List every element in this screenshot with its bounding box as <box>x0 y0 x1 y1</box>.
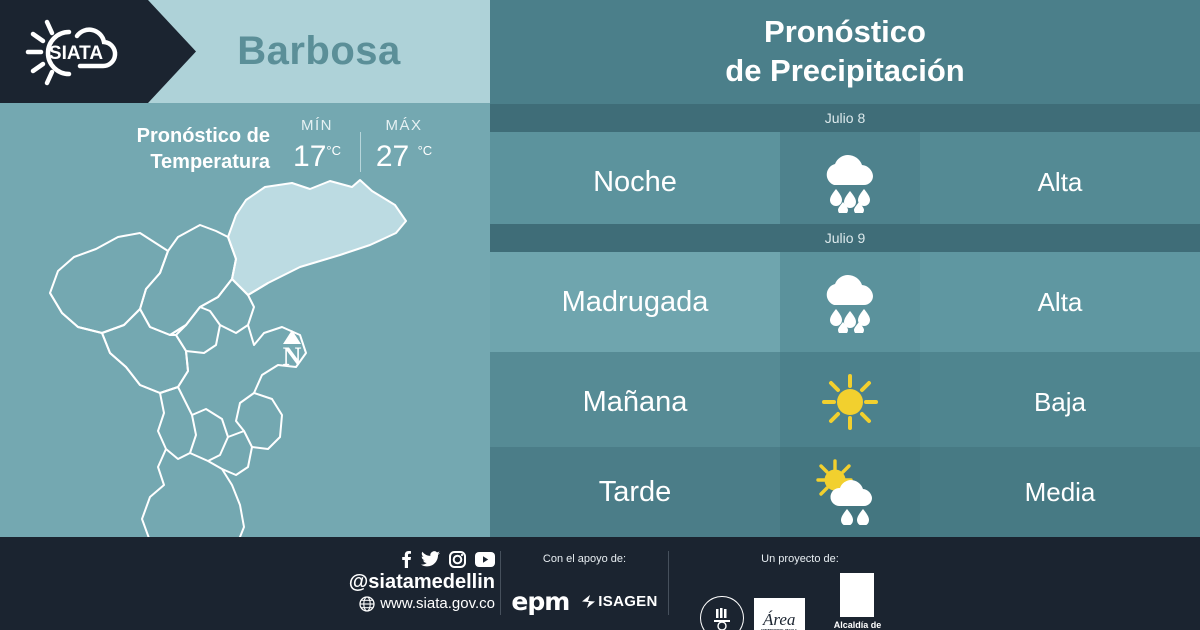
isagen-wordmark: ISAGEN <box>598 593 657 610</box>
compass-label: N <box>275 344 309 370</box>
youtube-icon[interactable] <box>475 552 495 567</box>
period-label: Tarde <box>490 447 780 537</box>
footer: @siatamedellin www.siata.gov.co Con el a… <box>0 537 1200 630</box>
max-unit: °C <box>418 143 433 158</box>
map-region: N <box>0 175 490 537</box>
date-band-julio-9: Julio 9 <box>490 224 1200 252</box>
max-label: MÁX <box>365 117 443 134</box>
website-row[interactable]: www.siata.gov.co <box>330 594 495 613</box>
epm-logo: epm <box>511 587 569 616</box>
infographic-root: SIATA Barbosa Pronóstico de Temperatura … <box>0 0 1200 630</box>
footer-divider-2 <box>668 551 669 615</box>
max-value-wrap: 27 °C <box>365 134 443 174</box>
period-label: Madrugada <box>490 252 780 352</box>
map-municipality-barbosa <box>228 180 406 295</box>
website-url: www.siata.gov.co <box>380 594 495 613</box>
temperature-title: Pronóstico de Temperatura <box>45 123 270 175</box>
max-value: 27 <box>376 140 409 173</box>
social-block: @siatamedellin www.siata.gov.co <box>330 549 495 613</box>
project-caption: Un proyecto de: <box>700 553 900 565</box>
isagen-mark-icon <box>581 594 596 609</box>
probability-label: Alta <box>920 252 1200 352</box>
temperature-min: MÍN 17°C <box>278 117 356 174</box>
temperature-max: MÁX 27 °C <box>365 117 443 174</box>
sun-cloud-rain-icon <box>780 447 920 537</box>
temperature-title-line2: Temperatura <box>45 149 270 175</box>
forecast-title-line2: de Precipitación <box>490 51 1200 90</box>
period-label: Mañana <box>490 352 780 452</box>
probability-label: Media <box>920 447 1200 537</box>
universidad-seal-icon <box>700 596 744 630</box>
twitter-icon[interactable] <box>421 551 440 567</box>
siata-wordmark: SIATA <box>49 43 103 64</box>
project-block: Un proyecto de: Área METROPOLITANA Valle… <box>700 553 900 630</box>
support-logos: epm ISAGEN <box>512 587 657 616</box>
forecast-title: Pronóstico de Precipitación <box>490 12 1200 90</box>
sun-icon <box>780 352 920 452</box>
min-value-wrap: 17°C <box>278 134 356 174</box>
temperature-title-line1: Pronóstico de <box>45 123 270 149</box>
left-panel: SIATA Barbosa Pronóstico de Temperatura … <box>0 0 490 537</box>
alcaldia-logo: Alcaldía de Medellín <box>815 573 900 630</box>
compass-rose: N <box>275 330 309 382</box>
support-caption: Con el apoyo de: <box>512 553 657 565</box>
isagen-logo: ISAGEN <box>581 593 657 610</box>
rain-cloud-icon <box>780 252 920 352</box>
forecast-title-line1: Pronóstico <box>490 12 1200 51</box>
probability-label: Alta <box>920 132 1200 232</box>
globe-icon <box>359 596 375 612</box>
alcaldia-label: Alcaldía de Medellín <box>815 620 900 630</box>
footer-divider-1 <box>500 551 501 615</box>
period-label: Noche <box>490 132 780 232</box>
forecast-row[interactable]: Tarde <box>490 447 1200 537</box>
support-block: Con el apoyo de: epm ISAGEN <box>512 553 657 616</box>
instagram-icon[interactable] <box>449 551 466 568</box>
siata-logo-icon: SIATA <box>14 14 134 89</box>
social-icons <box>330 549 495 569</box>
city-title: Barbosa <box>148 0 490 103</box>
temperature-divider <box>360 132 361 172</box>
social-handle[interactable]: @siatamedellin <box>330 570 495 594</box>
area-signature: Área <box>763 611 795 628</box>
facebook-icon[interactable] <box>401 550 412 568</box>
forecast-row[interactable]: Mañana Baja <box>490 352 1200 452</box>
date-band-julio-8: Julio 8 <box>490 104 1200 132</box>
min-label: MÍN <box>278 117 356 134</box>
aburra-valley-map <box>0 175 490 537</box>
area-metropolitana-logo: Área METROPOLITANA Valle de Aburrá <box>754 598 805 630</box>
forecast-row[interactable]: Madrugada Alta <box>490 252 1200 352</box>
min-unit: °C <box>326 143 341 158</box>
probability-label: Baja <box>920 352 1200 452</box>
alcaldia-crest-icon <box>840 573 874 617</box>
project-logos: Área METROPOLITANA Valle de Aburrá Alcal… <box>700 573 900 630</box>
forecast-row[interactable]: Noche Alta <box>490 132 1200 232</box>
forecast-panel: Pronóstico de Precipitación Julio 8 Noch… <box>490 0 1200 537</box>
min-value: 17 <box>293 140 326 173</box>
temperature-values: MÍN 17°C MÁX 27 °C <box>278 117 443 174</box>
rain-cloud-icon <box>780 132 920 232</box>
